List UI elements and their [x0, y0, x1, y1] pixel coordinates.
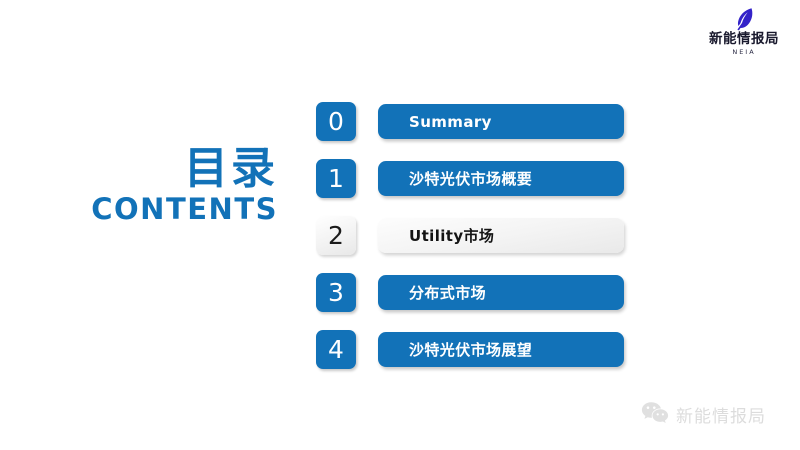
contents-list: 0 Summary 1 沙特光伏市场概要 2 Utility市场 3 — [316, 102, 624, 369]
contents-item-bar[interactable]: Utility市场 — [378, 218, 624, 253]
contents-item-label: 分布式市场 — [378, 282, 486, 303]
contents-item-bar[interactable]: 分布式市场 — [378, 275, 624, 310]
contents-item-1[interactable]: 1 沙特光伏市场概要 — [316, 159, 624, 198]
contents-item-4[interactable]: 4 沙特光伏市场展望 — [316, 330, 624, 369]
contents-item-0[interactable]: 0 Summary — [316, 102, 624, 141]
contents-item-number-box: 1 — [316, 159, 356, 198]
contents-item-label: Summary — [378, 113, 492, 131]
contents-item-2[interactable]: 2 Utility市场 — [316, 216, 624, 255]
brand-name-en: NEIA — [732, 48, 755, 57]
brand-logo: 新能情报局 NEIA — [694, 6, 794, 58]
contents-item-label: 沙特光伏市场概要 — [378, 168, 532, 189]
contents-item-bar[interactable]: 沙特光伏市场概要 — [378, 161, 624, 196]
contents-item-number: 4 — [328, 337, 344, 363]
contents-item-number-box: 3 — [316, 273, 356, 312]
contents-item-bar[interactable]: 沙特光伏市场展望 — [378, 332, 624, 367]
feather-quill-icon — [694, 6, 794, 32]
contents-item-number: 2 — [328, 223, 344, 249]
contents-item-3[interactable]: 3 分布式市场 — [316, 273, 624, 312]
contents-item-number-box: 2 — [316, 216, 356, 255]
contents-item-number: 0 — [328, 109, 344, 135]
page-title: 目录 CONTENTS — [62, 146, 278, 226]
contents-item-number: 1 — [328, 166, 344, 192]
wechat-icon — [641, 401, 669, 428]
brand-name-cn: 新能情报局 — [709, 32, 779, 47]
contents-item-number-box: 4 — [316, 330, 356, 369]
contents-item-bar[interactable]: Summary — [378, 104, 624, 139]
page-title-cn: 目录 — [62, 146, 278, 192]
watermark: 新能情报局 — [641, 401, 766, 428]
presentation-slide: 新能情报局 NEIA 目录 CONTENTS 0 Summary 1 沙特光伏市… — [0, 0, 800, 450]
watermark-text: 新能情报局 — [676, 402, 766, 427]
contents-item-label: Utility市场 — [378, 225, 494, 246]
contents-item-label: 沙特光伏市场展望 — [378, 339, 532, 360]
contents-item-number: 3 — [328, 280, 344, 306]
contents-item-number-box: 0 — [316, 102, 356, 141]
page-title-en: CONTENTS — [62, 193, 278, 226]
